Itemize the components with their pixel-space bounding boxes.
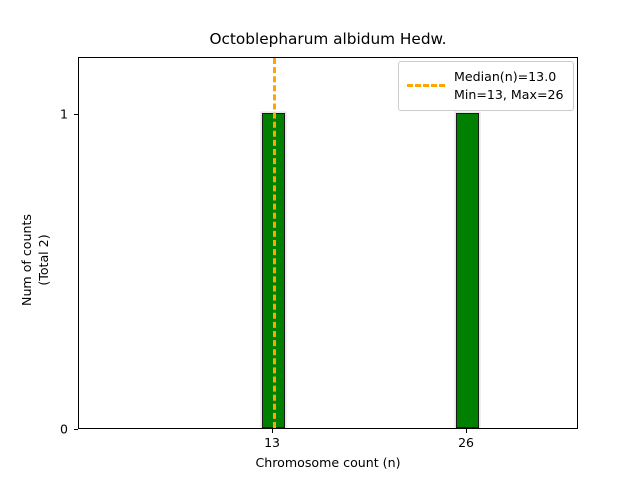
legend-row: Median(n)=13.0 Min=13, Max=26 [407, 68, 564, 104]
legend: Median(n)=13.0 Min=13, Max=26 [398, 61, 574, 111]
y-axis-label: Num of counts (Total 2) [19, 214, 52, 306]
y-tick-label-1: 1 [20, 106, 68, 121]
x-tick-label-26: 26 [436, 435, 496, 450]
legend-entry-minmax: Min=13, Max=26 [454, 86, 564, 104]
y-tick-label-0: 0 [20, 422, 68, 437]
x-tick-mark [466, 429, 467, 433]
dashed-line-icon [407, 84, 445, 87]
plot-inner [79, 58, 577, 428]
x-axis-label: Chromosome count (n) [78, 455, 578, 470]
legend-text-group: Median(n)=13.0 Min=13, Max=26 [454, 68, 564, 104]
y-tick-mark [74, 114, 78, 115]
x-tick-label-13: 13 [242, 435, 302, 450]
page-title: Octoblepharum albidum Hedw. [78, 30, 578, 48]
y-tick-mark [74, 429, 78, 430]
bar-26[interactable] [456, 113, 479, 428]
y-axis-label-wrapper: Num of counts (Total 2) [19, 74, 53, 446]
legend-entry-median: Median(n)=13.0 [454, 68, 564, 86]
median-line [273, 58, 276, 428]
x-tick-mark [272, 429, 273, 433]
plot-area [78, 57, 578, 429]
chart-figure: Octoblepharum albidum Hedw. Num of count… [0, 0, 640, 480]
